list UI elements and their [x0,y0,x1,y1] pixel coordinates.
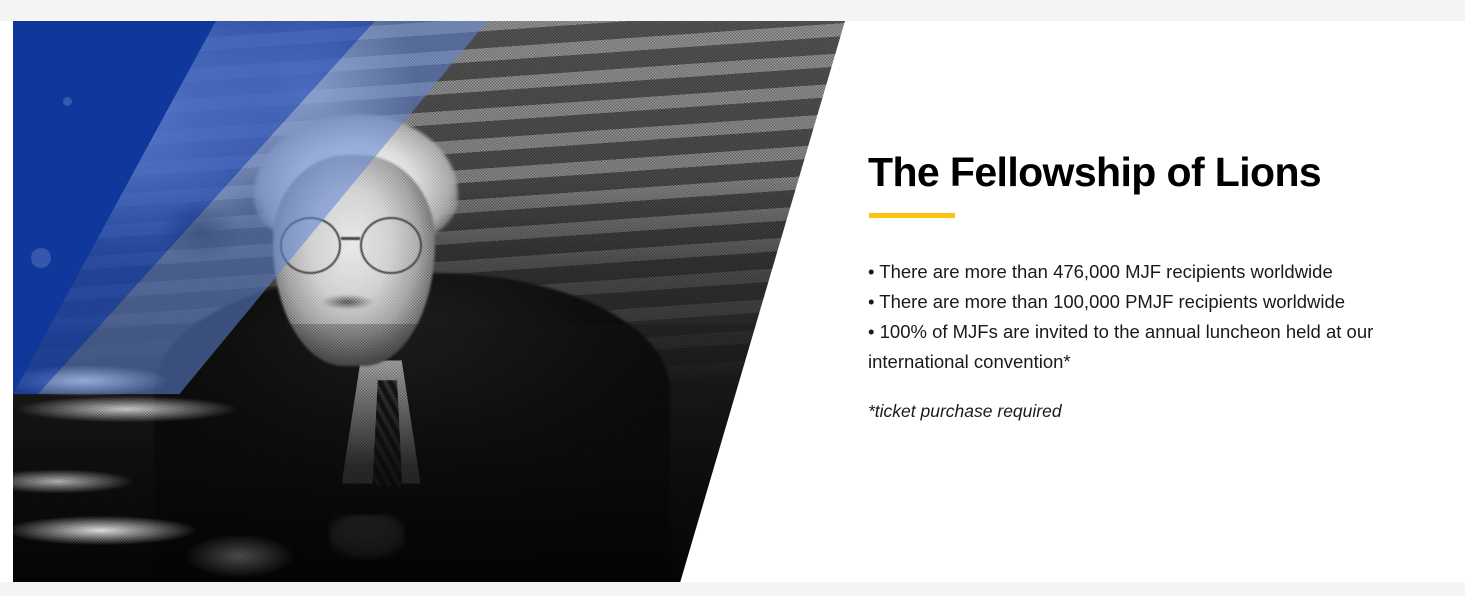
fact-list: • There are more than 476,000 MJF recipi… [868,257,1450,377]
page-root: The Fellowship of Lions • There are more… [0,0,1465,596]
title-underline-accent [869,213,955,218]
photo-mouth [320,294,375,309]
eyeglasses-left-lens [280,217,342,274]
melvin-jones-portrait [13,21,845,582]
fact-item-pmjf-recipients: • There are more than 100,000 PMJF recip… [868,287,1450,317]
fact-item-mjf-recipients: • There are more than 476,000 MJF recipi… [868,257,1450,287]
photo-desk-lamp [146,195,254,268]
hero-image-panel [13,21,845,582]
eyeglasses-bridge [341,237,360,240]
fact-item-luncheon-invitation: • 100% of MJFs are invited to the annual… [868,317,1450,377]
hero-copy-column: The Fellowship of Lions • There are more… [868,21,1453,582]
page-title: The Fellowship of Lions [868,151,1321,194]
footnote-ticket-purchase: *ticket purchase required [868,397,1062,425]
photo-desk-papers [13,324,845,582]
eyeglasses-right-lens [360,217,422,274]
hero-content-card: The Fellowship of Lions • There are more… [0,21,1465,582]
